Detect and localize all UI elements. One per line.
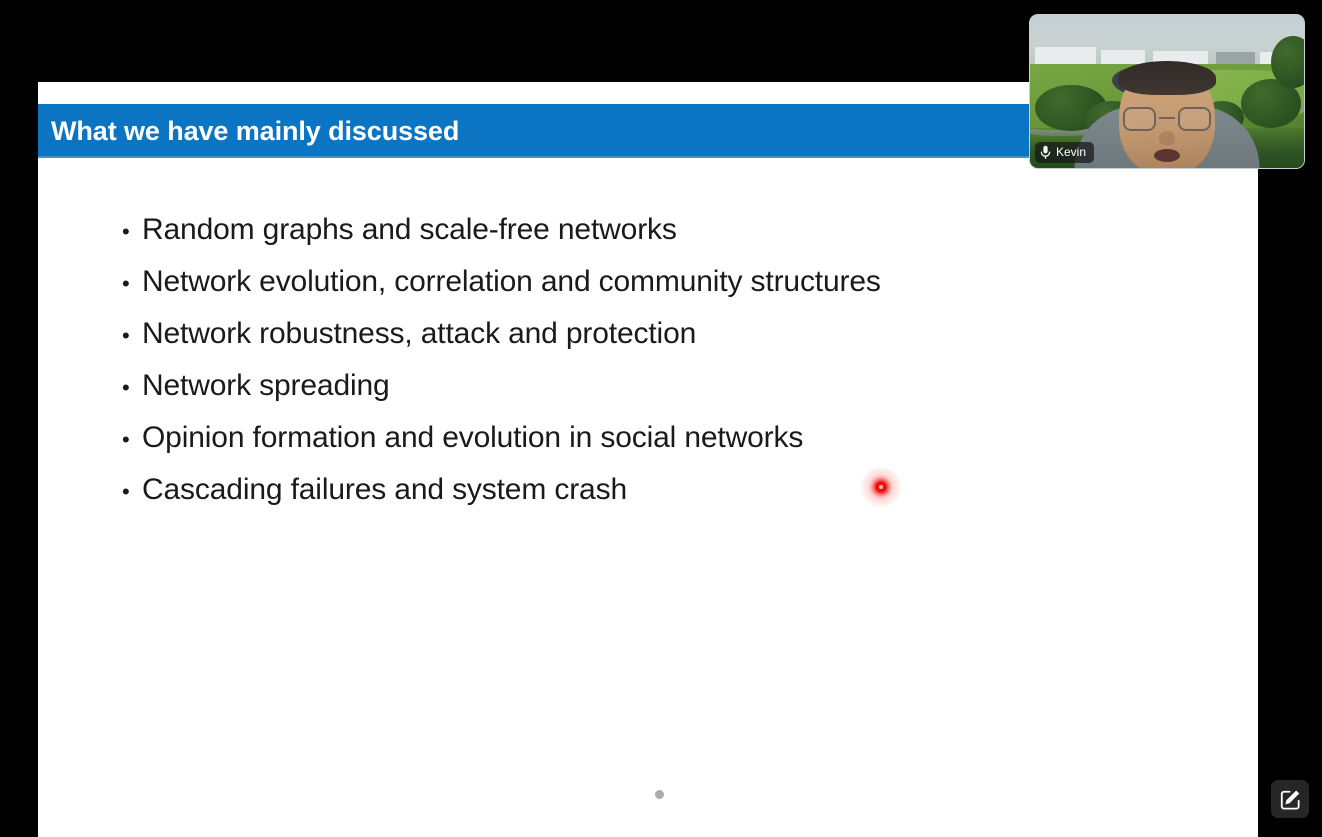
slide-canvas[interactable]: What we have mainly discussed • Random g…	[38, 82, 1258, 837]
bullet-marker-icon: •	[122, 310, 142, 362]
bullet-text: Network robustness, attack and protectio…	[142, 308, 696, 360]
bullet-text: Cascading failures and system crash	[142, 464, 627, 516]
participant-nose	[1159, 131, 1175, 145]
slide-title: What we have mainly discussed	[38, 116, 459, 147]
participant-mouth	[1154, 149, 1180, 162]
slide-bullet-list: • Random graphs and scale-free networks …	[122, 204, 1172, 516]
glasses-bridge-icon	[1159, 117, 1175, 119]
bullet-item: • Network evolution, correlation and com…	[122, 256, 1172, 308]
participant-hair	[1118, 61, 1216, 95]
bullet-marker-icon: •	[122, 414, 142, 466]
participant-head	[1119, 63, 1215, 169]
participant-silhouette	[1111, 61, 1223, 168]
annotate-button[interactable]	[1271, 780, 1309, 818]
microphone-icon	[1040, 145, 1051, 160]
bullet-marker-icon: •	[122, 258, 142, 310]
bullet-item: • Network robustness, attack and protect…	[122, 308, 1172, 360]
bullet-item: • Random graphs and scale-free networks	[122, 204, 1172, 256]
bullet-marker-icon: •	[122, 466, 142, 518]
bullet-marker-icon: •	[122, 362, 142, 414]
glasses-icon	[1123, 107, 1156, 131]
participant-name-badge: Kevin	[1035, 142, 1094, 163]
bullet-text: Network spreading	[142, 360, 390, 412]
slide-decoration-dot	[655, 790, 664, 799]
bullet-text: Network evolution, correlation and commu…	[142, 256, 881, 308]
bullet-item: • Opinion formation and evolution in soc…	[122, 412, 1172, 464]
bullet-marker-icon: •	[122, 206, 142, 258]
bullet-item: • Cascading failures and system crash	[122, 464, 1172, 516]
glasses-icon	[1178, 107, 1211, 131]
annotate-pen-icon	[1279, 788, 1302, 811]
participant-video-tile[interactable]: Kevin	[1029, 14, 1305, 169]
bullet-text: Opinion formation and evolution in socia…	[142, 412, 803, 464]
bullet-item: • Network spreading	[122, 360, 1172, 412]
bullet-text: Random graphs and scale-free networks	[142, 204, 677, 256]
participant-name-label: Kevin	[1056, 142, 1086, 163]
presentation-stage: What we have mainly discussed • Random g…	[0, 0, 1322, 837]
